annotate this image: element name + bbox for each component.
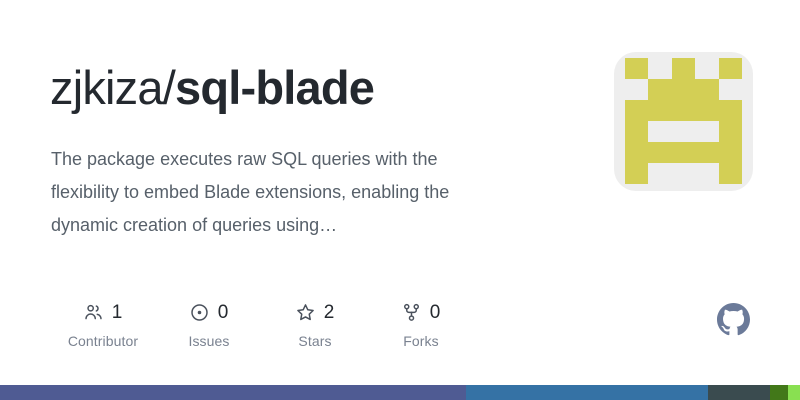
stat-forks-top: 0 bbox=[402, 300, 441, 324]
issue-opened-icon bbox=[190, 303, 209, 322]
identicon-cell-3-1 bbox=[648, 121, 671, 142]
language-segment-1 bbox=[466, 385, 708, 400]
identicon-cell-1-3 bbox=[695, 79, 718, 100]
stat-forks: 0 Forks bbox=[368, 300, 474, 349]
description-line-1: The package executes raw SQL queries wit… bbox=[51, 143, 571, 176]
identicon-cell-5-4 bbox=[719, 163, 742, 184]
star-icon bbox=[296, 303, 315, 322]
identicon-cell-5-0 bbox=[625, 163, 648, 184]
stat-contributors: 1 Contributor bbox=[50, 300, 156, 349]
identicon-cell-2-2 bbox=[672, 100, 695, 121]
stat-issues-value: 0 bbox=[218, 303, 229, 322]
stat-stars-label: Stars bbox=[298, 333, 331, 349]
people-icon bbox=[84, 303, 103, 322]
identicon-cell-1-2 bbox=[672, 79, 695, 100]
repo-stats: 1 Contributor 0 Issues bbox=[50, 300, 500, 349]
identicon-cell-2-0 bbox=[625, 100, 648, 121]
identicon-cell-0-2 bbox=[672, 58, 695, 79]
description-line-3: dynamic creation of queries using… bbox=[51, 209, 571, 242]
stat-issues-label: Issues bbox=[188, 333, 229, 349]
language-bar bbox=[0, 385, 800, 400]
identicon-cell-5-3 bbox=[695, 163, 718, 184]
identicon-cell-3-2 bbox=[672, 121, 695, 142]
identicon-cell-3-4 bbox=[719, 121, 742, 142]
repo-separator: / bbox=[163, 61, 175, 114]
stat-forks-label: Forks bbox=[403, 333, 439, 349]
description-line-2: flexibility to embed Blade extensions, e… bbox=[51, 176, 571, 209]
identicon-cell-2-1 bbox=[648, 100, 671, 121]
github-mark-icon bbox=[717, 303, 750, 336]
identicon-cell-4-2 bbox=[672, 142, 695, 163]
language-segment-4 bbox=[788, 385, 800, 400]
identicon-cell-1-0 bbox=[625, 79, 648, 100]
stat-contributors-top: 1 bbox=[84, 300, 123, 324]
stat-forks-value: 0 bbox=[430, 303, 441, 322]
identicon-avatar bbox=[625, 58, 742, 184]
identicon-cell-1-1 bbox=[648, 79, 671, 100]
repo-owner: zjkiza bbox=[50, 61, 163, 114]
repository-social-card: zjkiza/sql-blade The package executes ra… bbox=[0, 0, 800, 400]
repo-description: The package executes raw SQL queries wit… bbox=[51, 143, 571, 242]
identicon-cell-4-4 bbox=[719, 142, 742, 163]
stat-contributors-value: 1 bbox=[112, 303, 123, 322]
language-segment-3 bbox=[770, 385, 788, 400]
identicon-cell-2-4 bbox=[719, 100, 742, 121]
avatar bbox=[614, 52, 753, 191]
identicon-cell-2-3 bbox=[695, 100, 718, 121]
language-segment-0 bbox=[0, 385, 466, 400]
identicon-cell-3-0 bbox=[625, 121, 648, 142]
repo-forked-icon bbox=[402, 303, 421, 322]
identicon-cell-4-3 bbox=[695, 142, 718, 163]
stat-issues-top: 0 bbox=[190, 300, 229, 324]
stat-contributors-label: Contributor bbox=[68, 333, 138, 349]
repo-name: sql-blade bbox=[175, 61, 374, 114]
identicon-cell-1-4 bbox=[719, 79, 742, 100]
stat-issues: 0 Issues bbox=[156, 300, 262, 349]
identicon-cell-0-0 bbox=[625, 58, 648, 79]
identicon-cell-5-2 bbox=[672, 163, 695, 184]
page-title: zjkiza/sql-blade bbox=[50, 58, 374, 118]
stat-stars-value: 2 bbox=[324, 303, 335, 322]
stat-stars-top: 2 bbox=[296, 300, 335, 324]
identicon-cell-0-1 bbox=[648, 58, 671, 79]
language-segment-2 bbox=[708, 385, 770, 400]
identicon-cell-3-3 bbox=[695, 121, 718, 142]
identicon-cell-4-1 bbox=[648, 142, 671, 163]
stat-stars: 2 Stars bbox=[262, 300, 368, 349]
identicon-cell-5-1 bbox=[648, 163, 671, 184]
identicon-cell-0-4 bbox=[719, 58, 742, 79]
identicon-cell-4-0 bbox=[625, 142, 648, 163]
identicon-cell-0-3 bbox=[695, 58, 718, 79]
